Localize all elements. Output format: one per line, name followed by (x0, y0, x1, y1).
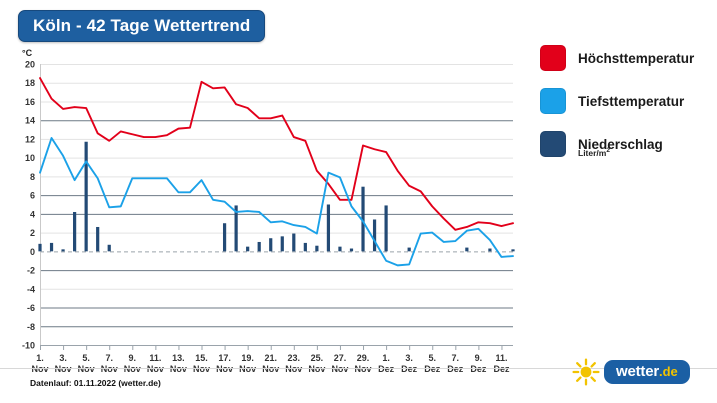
x-axis-tick-month: Nov (216, 364, 233, 374)
y-axis-tick-label: 14 (25, 116, 35, 126)
x-axis-tick-day: 3. (405, 353, 413, 363)
y-axis-tick-label: -8 (27, 322, 35, 332)
legend-item-min-temperature: Tiefsttemperatur (540, 88, 717, 114)
x-axis-tick-day: 13. (172, 353, 185, 363)
logo-word: wetter (616, 363, 659, 380)
x-axis-tick-day: 11. (149, 353, 161, 363)
precipitation-bar (73, 212, 76, 251)
data-run-note: Datenlauf: 01.11.2022 (wetter.de) (30, 378, 161, 388)
precipitation-bar (258, 242, 261, 251)
precipitation-bar (61, 249, 64, 251)
legend-precipitation-unit-text: Liter/m (578, 148, 606, 158)
x-axis-tick-month: Dez (447, 364, 464, 374)
y-axis-tick-label: 18 (25, 78, 35, 88)
x-axis-tick-day: 1. (36, 353, 44, 363)
x-axis-tick-month: Dez (493, 364, 510, 374)
x-axis-tick-day: 21. (264, 353, 277, 363)
x-axis-tick-month: Dez (401, 364, 418, 374)
x-axis-tick-month: Nov (55, 364, 72, 374)
x-axis-tick-day: 17. (218, 353, 231, 363)
precipitation-bar (304, 243, 307, 251)
y-axis-tick-label: 0 (30, 247, 35, 257)
weather-chart: 20181614121086420-2-4-6-8-101.Nov3.Nov5.… (0, 0, 530, 403)
x-axis-tick-day: 7. (452, 353, 460, 363)
x-axis-tick-month: Nov (147, 364, 164, 374)
precipitation-bar (315, 246, 318, 252)
precipitation-bar (292, 234, 295, 252)
precipitation-bar (465, 248, 468, 252)
legend-label-min-temperature: Tiefsttemperatur (578, 94, 684, 109)
x-axis-tick-month: Nov (78, 364, 95, 374)
x-axis-tick-month: Nov (124, 364, 141, 374)
x-axis-tick-day: 19. (241, 353, 254, 363)
x-axis-tick-day: 25. (311, 353, 324, 363)
precipitation-bar (373, 219, 376, 251)
legend-precipitation-unit-exponent: 2 (606, 147, 610, 154)
x-axis-tick-day: 27. (334, 353, 347, 363)
x-axis-tick-month: Nov (101, 364, 118, 374)
legend-swatch-min-temperature (540, 88, 566, 114)
weather-trend-widget: Köln - 42 Tage Wettertrend °C 2018161412… (0, 0, 717, 403)
y-axis-tick-label: 4 (30, 209, 35, 219)
y-axis-tick-label: 2 (30, 228, 35, 238)
x-axis-tick-day: 3. (59, 353, 67, 363)
y-axis-tick-label: 16 (25, 97, 35, 107)
x-axis-tick-month: Dez (470, 364, 487, 374)
x-axis-tick-month: Nov (193, 364, 210, 374)
precipitation-bar (223, 223, 226, 251)
precipitation-bar (350, 249, 353, 252)
x-axis-tick-day: 5. (428, 353, 436, 363)
x-axis-tick-month: Dez (424, 364, 441, 374)
wetter-de-logo[interactable]: wetter .de (572, 358, 690, 386)
legend-swatch-max-temperature (540, 45, 566, 71)
y-axis-tick-label: 6 (30, 191, 35, 201)
precipitation-bar (85, 142, 88, 252)
x-axis-tick-month: Nov (239, 364, 256, 374)
logo-tld: .de (659, 364, 678, 379)
x-axis-tick-month: Nov (285, 364, 302, 374)
y-axis-tick-label: 20 (25, 60, 35, 70)
precipitation-bar (269, 238, 272, 251)
x-axis-tick-month: Nov (262, 364, 279, 374)
precipitation-bar (488, 249, 491, 252)
x-axis-tick-month: Dez (378, 364, 395, 374)
y-axis-tick-label: 12 (25, 134, 35, 144)
x-axis-tick-day: 15. (195, 353, 208, 363)
precipitation-bar (96, 227, 99, 251)
x-axis-tick-day: 29. (357, 353, 370, 363)
legend-swatch-precipitation (540, 131, 566, 157)
precipitation-bar (38, 244, 41, 251)
x-axis-tick-month: Nov (308, 364, 325, 374)
wetter-de-wordmark: wetter .de (604, 360, 690, 384)
x-axis-tick-day: 9. (475, 353, 483, 363)
x-axis-tick-day: 1. (382, 353, 390, 363)
y-axis-tick-label: 10 (25, 153, 35, 163)
y-axis-tick-label: 8 (30, 172, 35, 182)
x-axis-tick-day: 9. (129, 353, 137, 363)
precipitation-bar (408, 248, 411, 252)
precipitation-bar (338, 247, 341, 252)
precipitation-bar (511, 249, 514, 251)
x-axis-tick-month: Nov (170, 364, 187, 374)
x-axis-tick-day: 23. (288, 353, 301, 363)
x-axis-tick-day: 5. (82, 353, 90, 363)
sun-icon (572, 358, 600, 386)
min-temperature-line (40, 138, 513, 265)
chart-legend: Höchsttemperatur Tiefsttemperatur Nieder… (540, 45, 717, 158)
x-axis-tick-day: 7. (105, 353, 113, 363)
y-axis-tick-label: -10 (22, 341, 35, 351)
precipitation-bar (246, 247, 249, 252)
y-axis-tick-label: -6 (27, 303, 35, 313)
x-axis-tick-day: 11. (495, 353, 507, 363)
precipitation-bar (108, 245, 111, 252)
x-axis-tick-month: Nov (331, 364, 348, 374)
y-axis-tick-label: -4 (27, 284, 35, 294)
legend-label-max-temperature: Höchsttemperatur (578, 51, 694, 66)
x-axis-tick-month: Nov (355, 364, 372, 374)
precipitation-bar (327, 205, 330, 252)
y-axis-tick-label: -2 (27, 266, 35, 276)
precipitation-bar (384, 205, 387, 251)
precipitation-bar (50, 243, 53, 251)
legend-item-max-temperature: Höchsttemperatur (540, 45, 717, 71)
precipitation-bar (281, 236, 284, 251)
x-axis-tick-month: Nov (31, 364, 48, 374)
